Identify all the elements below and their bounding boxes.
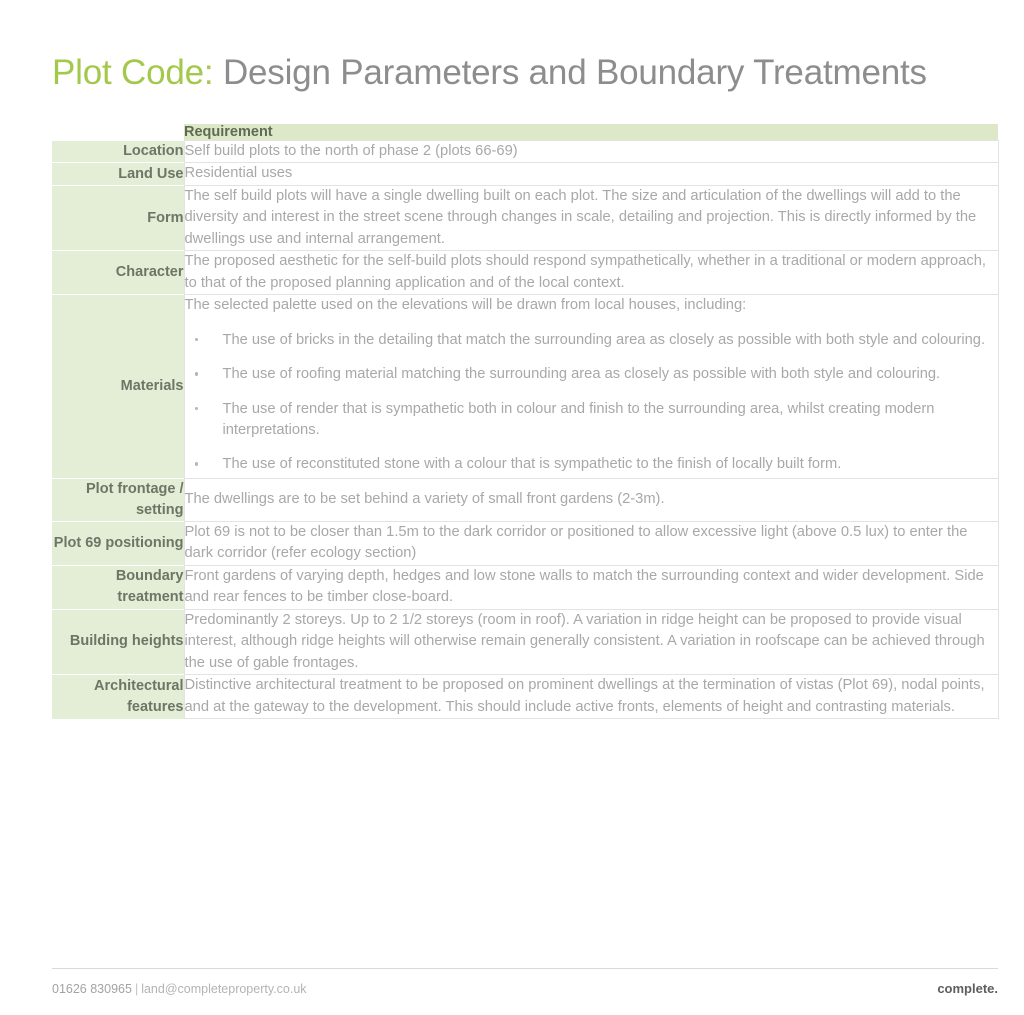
table-row: Materials The selected palette used on t…	[52, 295, 998, 479]
table-header-blank	[52, 124, 184, 141]
table-header-requirement: Requirement	[184, 124, 998, 141]
row-value-materials: The selected palette used on the elevati…	[184, 295, 998, 479]
materials-bullet-list: The use of bricks in the detailing that …	[185, 330, 998, 476]
row-value-plot-frontage: The dwellings are to be set behind a var…	[184, 478, 998, 521]
row-text: The proposed aesthetic for the self-buil…	[185, 251, 998, 294]
row-value-building-heights: Predominantly 2 storeys. Up to 2 1/2 sto…	[184, 609, 998, 674]
table-row: Plot frontage / setting The dwellings ar…	[52, 478, 998, 521]
table-body: Location Self build plots to the north o…	[52, 141, 998, 719]
table-row: Land Use Residential uses	[52, 163, 998, 185]
row-label-building-heights: Building heights	[52, 609, 184, 674]
row-label-boundary-treatment: Boundary treatment	[52, 565, 184, 609]
plot-code-table: Requirement Location Self build plots to…	[52, 124, 999, 719]
row-text: The selected palette used on the elevati…	[185, 295, 998, 316]
row-label-land-use: Land Use	[52, 163, 184, 185]
footer-brand-logo: complete.	[937, 981, 998, 996]
row-label-materials: Materials	[52, 295, 184, 479]
bullet-dot-icon	[195, 372, 199, 376]
table-row: Form The self build plots will have a si…	[52, 185, 998, 250]
bullet-dot-icon	[195, 462, 199, 466]
row-value-land-use: Residential uses	[184, 163, 998, 185]
row-label-plot-69-positioning: Plot 69 positioning	[52, 521, 184, 565]
table-row: Architectural features Distinctive archi…	[52, 675, 998, 719]
table-row: Plot 69 positioning Plot 69 is not to be…	[52, 521, 998, 565]
row-value-boundary-treatment: Front gardens of varying depth, hedges a…	[184, 565, 998, 609]
footer-phone: 01626 830965	[52, 982, 132, 996]
list-item: The use of render that is sympathetic bo…	[185, 399, 998, 442]
footer-contact: 01626 830965|land@completeproperty.co.uk	[52, 982, 307, 996]
row-label-character: Character	[52, 251, 184, 295]
list-item-text: The use of reconstituted stone with a co…	[223, 456, 842, 472]
row-label-location: Location	[52, 141, 184, 163]
page-title-accent: Plot Code:	[52, 53, 213, 92]
bullet-dot-icon	[195, 407, 199, 411]
list-item: The use of reconstituted stone with a co…	[185, 454, 998, 475]
table-row: Location Self build plots to the north o…	[52, 141, 998, 163]
bullet-dot-icon	[195, 338, 199, 342]
table-row: Character The proposed aesthetic for the…	[52, 251, 998, 295]
row-text: Distinctive architectural treatment to b…	[185, 675, 998, 718]
list-item-text: The use of roofing material matching the…	[223, 366, 941, 382]
row-value-location: Self build plots to the north of phase 2…	[184, 141, 998, 163]
row-text: Predominantly 2 storeys. Up to 2 1/2 sto…	[185, 610, 998, 674]
list-item-text: The use of render that is sympathetic bo…	[223, 401, 935, 438]
document-page: Plot Code: Design Parameters and Boundar…	[0, 0, 1024, 1015]
list-item: The use of roofing material matching the…	[185, 364, 998, 385]
row-value-plot-69-positioning: Plot 69 is not to be closer than 1.5m to…	[184, 521, 998, 565]
row-text: Plot 69 is not to be closer than 1.5m to…	[185, 522, 998, 565]
row-value-character: The proposed aesthetic for the self-buil…	[184, 251, 998, 295]
table-header-row: Requirement	[52, 124, 998, 141]
row-label-form: Form	[52, 185, 184, 250]
row-label-plot-frontage: Plot frontage / setting	[52, 478, 184, 521]
row-value-form: The self build plots will have a single …	[184, 185, 998, 250]
footer-divider	[52, 968, 998, 969]
row-text: Residential uses	[185, 163, 998, 184]
list-item: The use of bricks in the detailing that …	[185, 330, 998, 351]
footer-email[interactable]: land@completeproperty.co.uk	[141, 982, 306, 996]
table-row: Building heights Predominantly 2 storeys…	[52, 609, 998, 674]
footer-separator: |	[135, 982, 138, 996]
row-text: The dwellings are to be set behind a var…	[185, 489, 998, 510]
table-row: Boundary treatment Front gardens of vary…	[52, 565, 998, 609]
row-text: Self build plots to the north of phase 2…	[185, 141, 998, 162]
row-value-architectural-features: Distinctive architectural treatment to b…	[184, 675, 998, 719]
row-text: The self build plots will have a single …	[185, 186, 998, 250]
table-head: Requirement	[52, 124, 998, 141]
page-title: Plot Code: Design Parameters and Boundar…	[52, 53, 927, 93]
page-title-rest: Design Parameters and Boundary Treatment…	[223, 53, 927, 92]
list-item-text: The use of bricks in the detailing that …	[223, 332, 986, 348]
row-text: Front gardens of varying depth, hedges a…	[185, 566, 998, 609]
page-footer: 01626 830965|land@completeproperty.co.uk…	[52, 981, 998, 996]
row-label-architectural-features: Architectural features	[52, 675, 184, 719]
